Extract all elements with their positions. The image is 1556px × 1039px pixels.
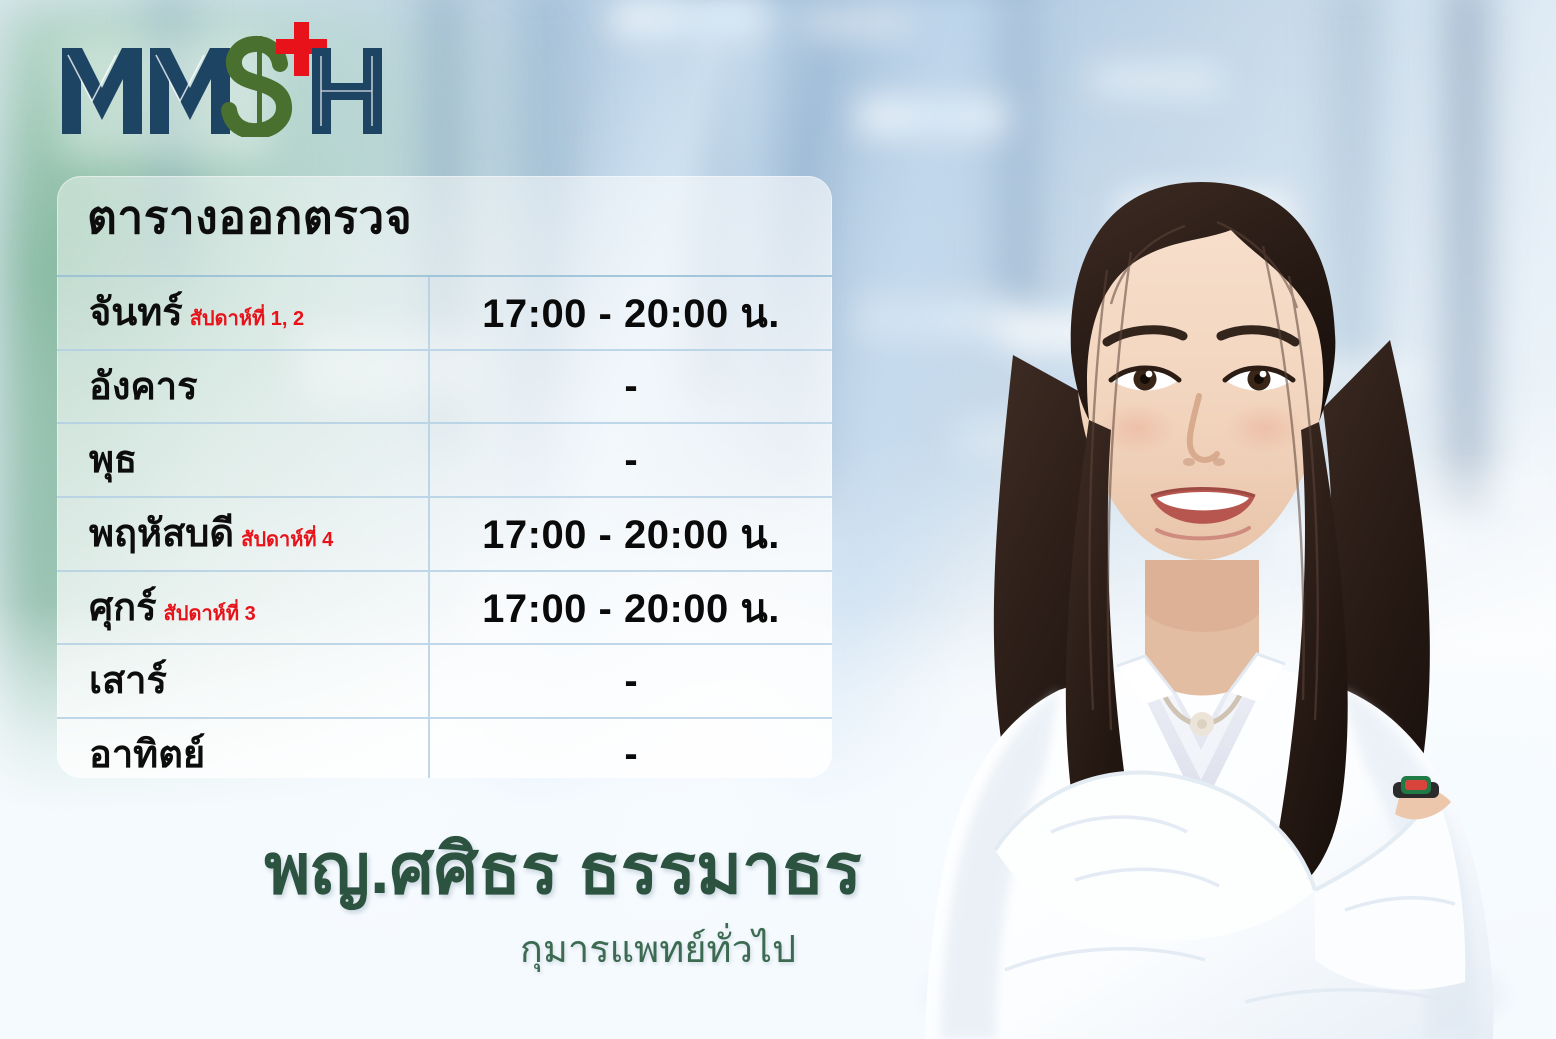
schedule-card: ตารางออกตรวจ จันทร์ สัปดาห์ที่ 1, 2 17:0…	[57, 176, 832, 778]
week-note: สัปดาห์ที่ 4	[241, 530, 333, 550]
table-row: จันทร์ สัปดาห์ที่ 1, 2 17:00 - 20:00 น.	[57, 275, 832, 349]
doctor-schedule-poster: ตารางออกตรวจ จันทร์ สัปดาห์ที่ 1, 2 17:0…	[0, 0, 1556, 1039]
time-label: -	[624, 732, 637, 777]
day-label: เสาร์	[89, 662, 167, 700]
table-row: อาทิตย์ -	[57, 717, 832, 778]
time-label: 17:00 - 20:00 น.	[482, 576, 780, 640]
logo-letter-s-stem	[257, 36, 262, 132]
day-label: พุธ	[89, 441, 137, 479]
time-label: 17:00 - 20:00 น.	[482, 502, 780, 566]
schedule-table: จันทร์ สัปดาห์ที่ 1, 2 17:00 - 20:00 น. …	[57, 275, 832, 778]
day-cell: ศุกร์ สัปดาห์ที่ 3	[57, 589, 428, 627]
schedule-title: ตารางออกตรวจ	[87, 192, 412, 243]
time-cell: -	[428, 351, 832, 423]
day-cell: พฤหัสบดี สัปดาห์ที่ 4	[57, 515, 428, 553]
time-label: 17:00 - 20:00 น.	[482, 281, 780, 345]
time-cell: -	[428, 719, 832, 778]
day-cell: เสาร์	[57, 662, 428, 700]
table-row: พฤหัสบดี สัปดาห์ที่ 4 17:00 - 20:00 น.	[57, 496, 832, 570]
day-cell: จันทร์ สัปดาห์ที่ 1, 2	[57, 294, 428, 332]
logo-letter-m-2	[150, 48, 230, 134]
day-label: อาทิตย์	[89, 736, 205, 774]
logo-letter-m-1	[62, 48, 142, 134]
day-cell: พุธ	[57, 441, 428, 479]
day-cell: อังคาร	[57, 368, 428, 406]
time-cell: 17:00 - 20:00 น.	[428, 572, 832, 644]
mmsh-logo	[58, 22, 418, 137]
table-row: ศุกร์ สัปดาห์ที่ 3 17:00 - 20:00 น.	[57, 570, 832, 644]
table-row: พุธ -	[57, 422, 832, 496]
time-cell: -	[428, 424, 832, 496]
time-cell: 17:00 - 20:00 น.	[428, 277, 832, 349]
logo-letter-s	[229, 44, 284, 131]
day-label: พฤหัสบดี	[89, 515, 234, 553]
logo-letter-h	[312, 48, 382, 134]
day-label: อังคาร	[89, 368, 198, 406]
time-label: -	[624, 659, 637, 704]
day-cell: อาทิตย์	[57, 736, 428, 774]
time-label: -	[624, 364, 637, 409]
doctor-specialty: กุมารแพทย์ทั่วไป	[0, 930, 1556, 972]
time-cell: 17:00 - 20:00 น.	[428, 498, 832, 570]
day-label: ศุกร์	[89, 589, 157, 627]
week-note: สัปดาห์ที่ 3	[164, 604, 256, 624]
table-row: อังคาร -	[57, 349, 832, 423]
table-row: เสาร์ -	[57, 643, 832, 717]
day-label: จันทร์	[89, 294, 183, 332]
doctor-name: พญ.ศศิธร ธรรมาธร	[0, 833, 1556, 907]
time-cell: -	[428, 645, 832, 717]
time-label: -	[624, 438, 637, 483]
week-note: สัปดาห์ที่ 1, 2	[190, 309, 304, 329]
